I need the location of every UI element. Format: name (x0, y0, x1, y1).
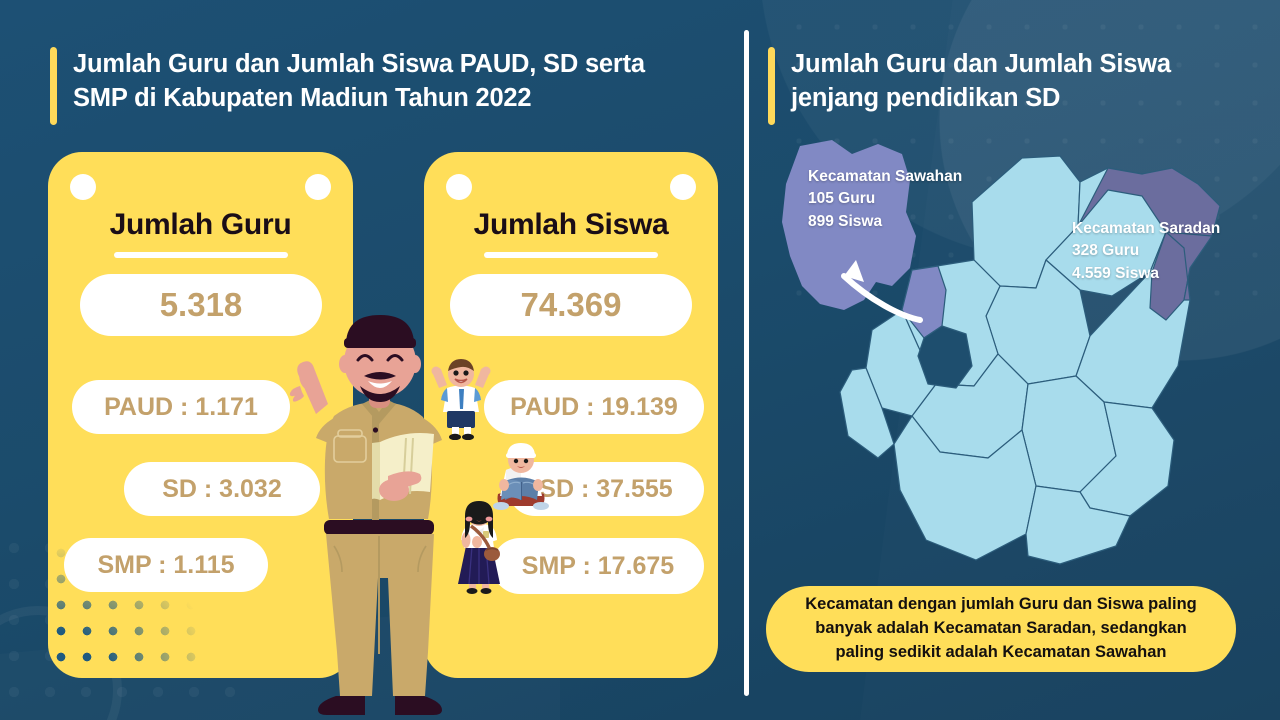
card-hole-left-icon (446, 174, 472, 200)
infographic-canvas: Jumlah Guru dan Jumlah Siswa PAUD, SD se… (0, 0, 1280, 720)
card-siswa-divider (484, 252, 658, 258)
student-boy-illustration (430, 358, 492, 440)
left-panel-title-text: Jumlah Guru dan Jumlah Siswa PAUD, SD se… (73, 47, 645, 125)
card-guru-paud-value: PAUD : 1.171 (72, 380, 290, 434)
card-siswa-paud-value: PAUD : 19.139 (484, 380, 704, 434)
map-label-saradan: Kecamatan Saradan 328 Guru 4.559 Siswa (1072, 218, 1220, 285)
title-accent-bar-right (768, 47, 775, 125)
right-panel-title-text: Jumlah Guru dan Jumlah Siswa jenjang pen… (791, 47, 1171, 125)
card-hole-left-icon (70, 174, 96, 200)
map-summary-caption: Kecamatan dengan jumlah Guru dan Siswa p… (766, 586, 1236, 672)
left-panel-title: Jumlah Guru dan Jumlah Siswa PAUD, SD se… (50, 47, 710, 125)
panel-divider (744, 30, 749, 696)
card-hole-right-icon (670, 174, 696, 200)
card-guru-divider (114, 252, 288, 258)
card-guru-smp-value: SMP : 1.115 (64, 538, 268, 592)
student-girl-illustration (450, 500, 508, 594)
map-label-sawahan: Kecamatan Sawahan 105 Guru 899 Siswa (808, 166, 962, 233)
right-panel-title: Jumlah Guru dan Jumlah Siswa jenjang pen… (768, 47, 1238, 125)
card-siswa-total-value: 74.369 (450, 274, 692, 336)
card-siswa-title: Jumlah Siswa (424, 208, 718, 242)
card-siswa-smp-value: SMP : 17.675 (492, 538, 704, 594)
map-kabupaten-madiun[interactable]: Kecamatan Sawahan 105 Guru 899 Siswa Kec… (760, 140, 1260, 580)
title-accent-bar-left (50, 47, 57, 125)
card-hole-right-icon (305, 174, 331, 200)
card-guru-title: Jumlah Guru (48, 208, 353, 242)
